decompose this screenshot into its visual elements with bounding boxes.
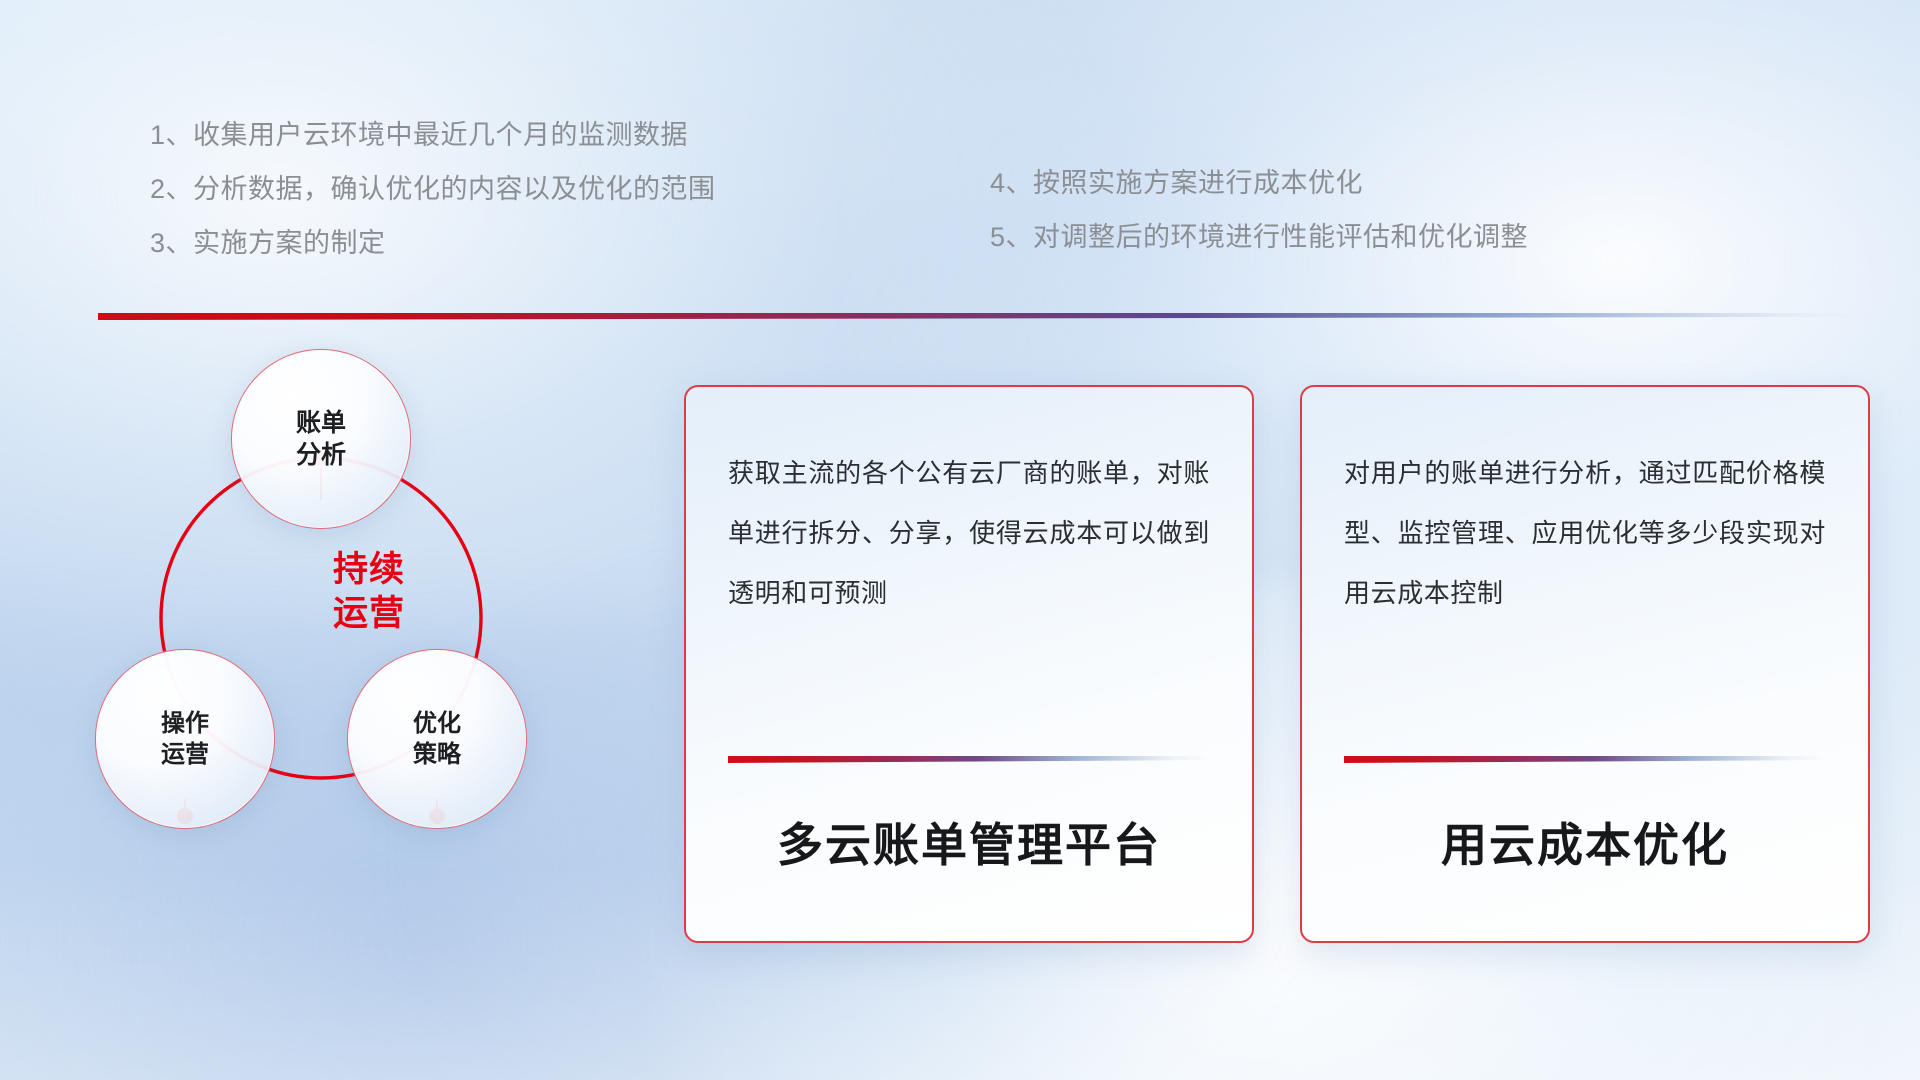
- venn-bubble-optimization-strategy-line-2: 策略: [413, 739, 461, 770]
- steps-list-left: 1、收集用户云环境中最近几个月的监测数据 2、分析数据，确认优化的内容以及优化的…: [150, 108, 716, 270]
- step-item-1: 1、收集用户云环境中最近几个月的监测数据: [150, 108, 716, 162]
- venn-bubble-bill-analysis-line-2: 分析: [296, 439, 346, 472]
- venn-bubble-bill-analysis-line-1: 账单: [296, 407, 346, 440]
- card-multi-cloud-billing-platform[interactable]: 获取主流的各个公有云厂商的账单，对账单进行拆分、分享，使得云成本可以做到透明和可…: [684, 385, 1254, 943]
- venn-diagram: 账单 分析 操作 运营 优化 策略 持续 运营: [96, 350, 636, 920]
- venn-bubble-operation-ops-line-1: 操作: [161, 708, 209, 739]
- card-1-body-text: 获取主流的各个公有云厂商的账单，对账单进行拆分、分享，使得云成本可以做到透明和可…: [728, 443, 1210, 623]
- card-cloud-cost-optimization[interactable]: 对用户的账单进行分析，通过匹配价格模型、监控管理、应用优化等多少段实现对用云成本…: [1300, 385, 1870, 943]
- venn-bubble-bill-analysis[interactable]: 账单 分析: [232, 350, 410, 528]
- card-1-title: 多云账单管理平台: [728, 763, 1210, 941]
- venn-bubble-optimization-strategy[interactable]: 优化 策略: [348, 650, 526, 828]
- step-item-5: 5、对调整后的环境进行性能评估和优化调整: [990, 210, 1528, 264]
- venn-center-label: 持续 运营: [274, 548, 464, 636]
- venn-bubble-operation-ops[interactable]: 操作 运营: [96, 650, 274, 828]
- card-2-body-text: 对用户的账单进行分析，通过匹配价格模型、监控管理、应用优化等多少段实现对用云成本…: [1344, 443, 1826, 623]
- step-item-4: 4、按照实施方案进行成本优化: [990, 156, 1528, 210]
- step-item-2: 2、分析数据，确认优化的内容以及优化的范围: [150, 162, 716, 216]
- step-item-3: 3、实施方案的制定: [150, 216, 716, 270]
- venn-center-label-line-2: 运营: [274, 592, 464, 636]
- steps-list-right: 4、按照实施方案进行成本优化 5、对调整后的环境进行性能评估和优化调整: [990, 156, 1528, 264]
- card-1-rule: [728, 756, 1210, 763]
- venn-center-label-line-1: 持续: [274, 548, 464, 592]
- card-2-title: 用云成本优化: [1344, 763, 1826, 941]
- slide-canvas: 1、收集用户云环境中最近几个月的监测数据 2、分析数据，确认优化的内容以及优化的…: [0, 0, 1920, 1080]
- card-2-rule: [1344, 756, 1826, 763]
- venn-bubble-operation-ops-line-2: 运营: [161, 739, 209, 770]
- venn-bubble-optimization-strategy-line-1: 优化: [413, 708, 461, 739]
